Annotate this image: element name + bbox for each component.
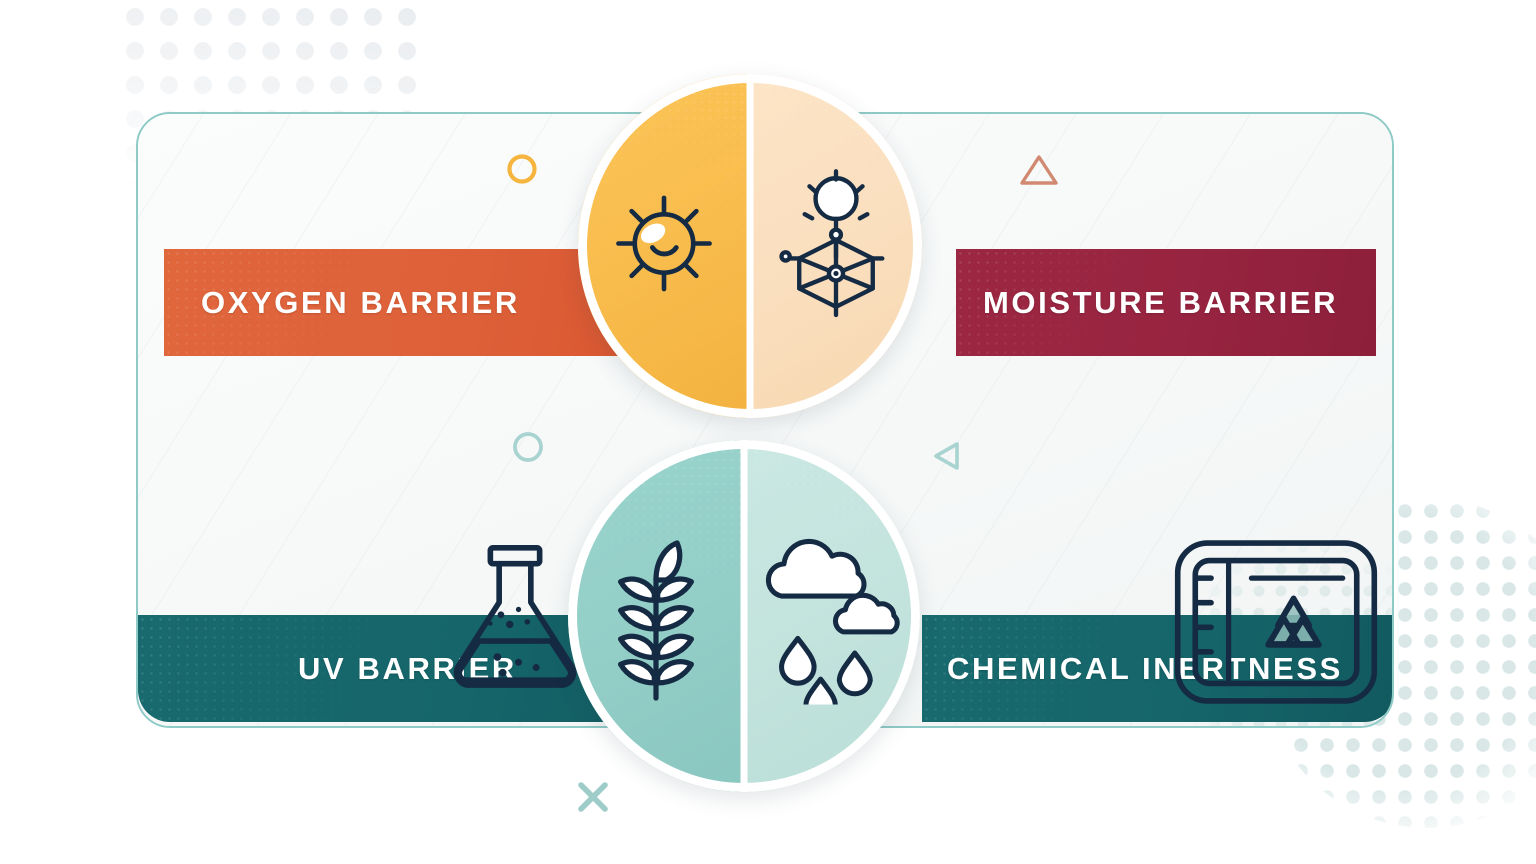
infographic-canvas: OXYGEN BARRIER MOISTURE BARRIER UV BARRI… xyxy=(0,0,1536,864)
circle-top-split[interactable] xyxy=(578,74,922,418)
accent-triangle-left-teal-icon xyxy=(927,435,967,482)
band-label-moisture: MOISTURE BARRIER xyxy=(983,285,1338,321)
accent-ring-teal-icon xyxy=(510,429,546,470)
band-chemical-inertness[interactable]: CHEMICAL INERTNESS xyxy=(922,615,1394,722)
band-label-oxygen: OXYGEN BARRIER xyxy=(201,285,520,321)
molecule-icon xyxy=(772,169,900,324)
band-label-chemical: CHEMICAL INERTNESS xyxy=(947,651,1343,687)
circle-bottom-divider xyxy=(741,440,748,792)
band-label-uv: UV BARRIER xyxy=(298,651,517,687)
accent-ring-amber-icon xyxy=(505,152,539,191)
accent-triangle-salmon-icon xyxy=(1017,152,1061,193)
circle-bottom-split[interactable] xyxy=(568,440,920,792)
wheat-stalk-icon xyxy=(597,535,715,712)
circle-top-divider xyxy=(747,74,754,418)
band-moisture-barrier[interactable]: MOISTURE BARRIER xyxy=(956,249,1376,356)
sun-icon xyxy=(596,176,732,317)
rain-cloud-icon xyxy=(762,537,902,710)
